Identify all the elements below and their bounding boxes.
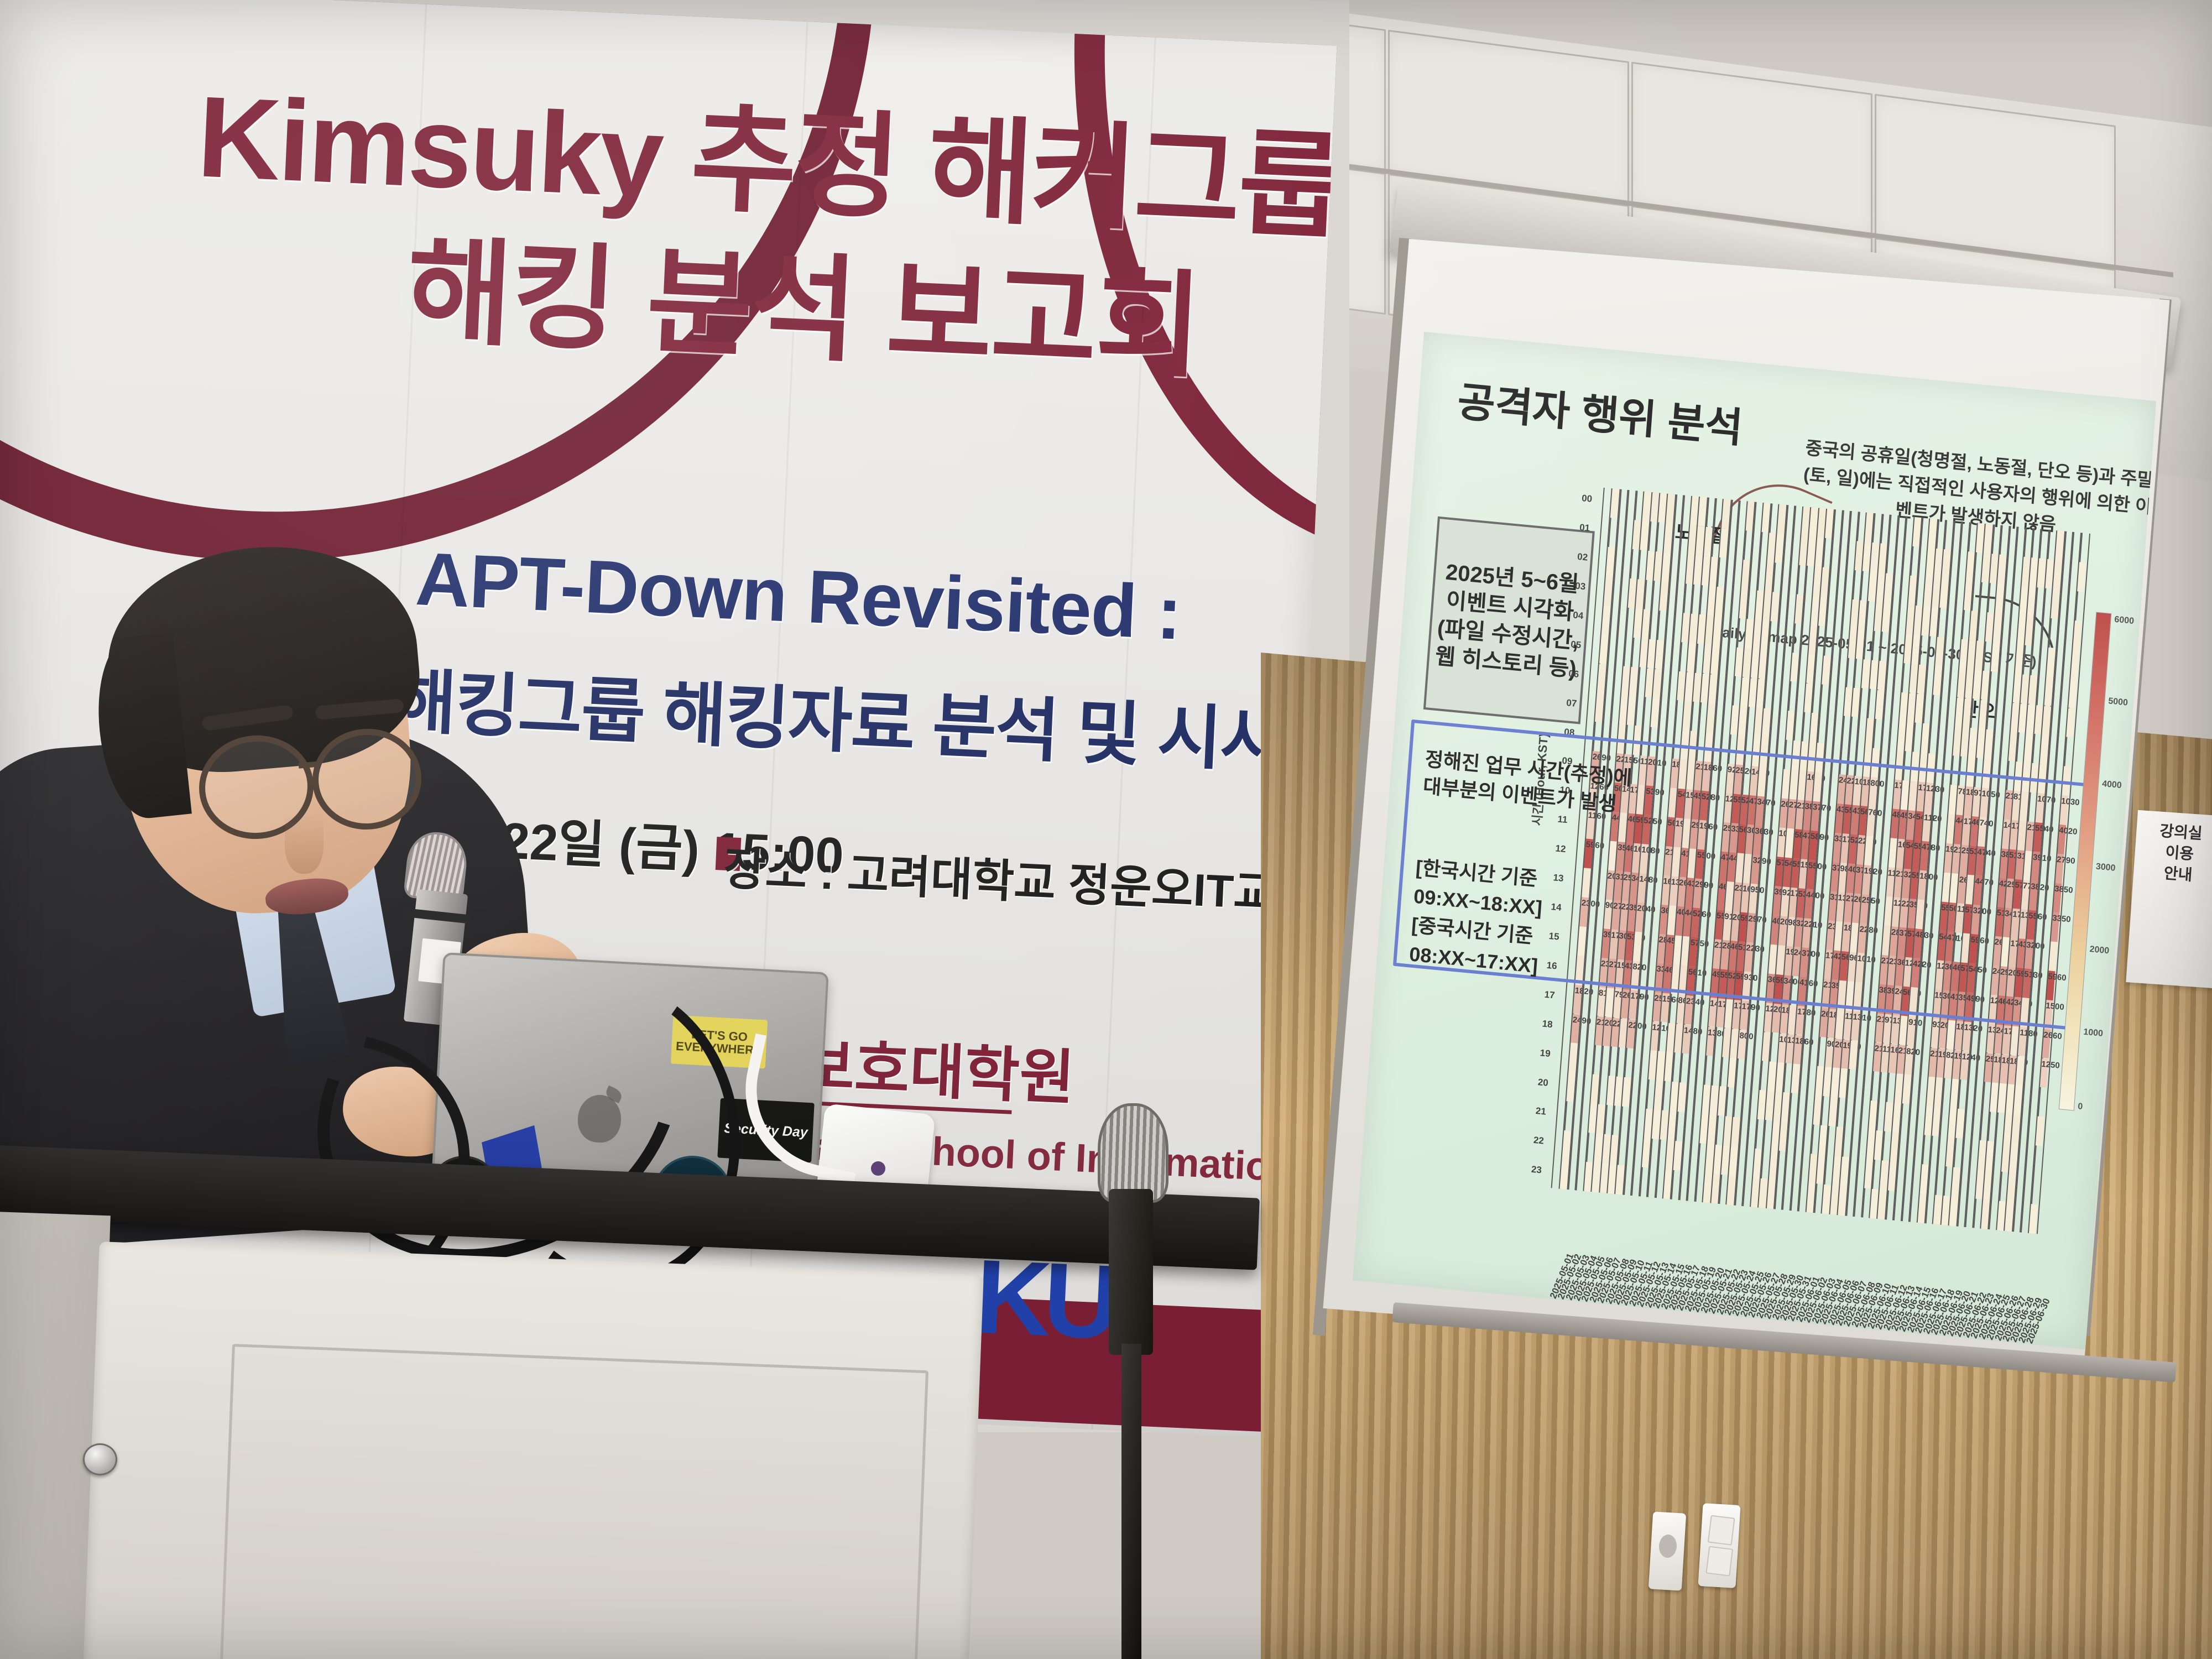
- heatmap-y-tick: 20: [1537, 1077, 1548, 1089]
- heatmap-y-tick: 01: [1579, 522, 1590, 534]
- podium-front-panel: [218, 1344, 928, 1659]
- colorbar-tick-2: 4000: [2101, 779, 2122, 791]
- photo-scene: Kimsuky 추정 해커그룹 해킹 분석 보고회 APT-Down Revis…: [0, 0, 2212, 1659]
- heatmap-y-tick: 19: [1540, 1047, 1551, 1060]
- presentation-slide: 공격자 행위 분석 2025년 5~6월 이벤트 시각화 (파일 수정시간, 웹…: [1353, 332, 2156, 1349]
- notice-line-3: 안내: [2137, 861, 2212, 888]
- nose: [285, 813, 324, 874]
- heatmap-y-tick: 17: [1544, 989, 1555, 1001]
- slide-title: 공격자 행위 분석: [1455, 368, 1745, 454]
- slide-callout-box: 2025년 5~6월 이벤트 시각화 (파일 수정시간, 웹 히스토리 등): [1423, 517, 1595, 724]
- heatmap-y-tick: 03: [1575, 581, 1586, 593]
- colorbar-tick-4: 2000: [2089, 945, 2110, 956]
- heatmap-y-tick: 05: [1571, 639, 1582, 651]
- heatmap-y-tick: 04: [1573, 609, 1584, 622]
- wall-light-switch[interactable]: [1698, 1503, 1740, 1588]
- light-switch-top-button[interactable]: [1708, 1515, 1735, 1546]
- heatmap-y-tick: 22: [1533, 1135, 1544, 1147]
- heatmap-y-tick: 18: [1542, 1018, 1553, 1030]
- floor-microphone-head[interactable]: [1098, 1103, 1168, 1203]
- heatmap-y-tick: 06: [1568, 668, 1579, 680]
- floor-microphone-stand: [1121, 1344, 1141, 1659]
- podium-lock-icon[interactable]: [83, 1443, 117, 1475]
- wall-notice-sign: 강의실 이용 안내: [2126, 810, 2212, 988]
- banner-venue: 장소 : 고려대학교 정운오IT교양관 404호: [722, 832, 1337, 932]
- colorbar-tick-1: 5000: [2108, 696, 2128, 708]
- power-adapter-indicator-icon: [871, 1161, 885, 1176]
- colorbar-tick-6: 0: [2078, 1102, 2083, 1112]
- colorbar-tick-0: 6000: [2114, 615, 2135, 627]
- heatmap-y-tick: 07: [1566, 697, 1577, 709]
- colorbar-tick-3: 3000: [2095, 862, 2116, 873]
- heatmap-y-tick: 02: [1577, 551, 1588, 564]
- heatmap-y-tick: 23: [1531, 1164, 1542, 1176]
- light-switch-bottom-button[interactable]: [1705, 1546, 1733, 1577]
- floor-microphone-body: [1109, 1189, 1153, 1355]
- work-hours-times: [한국시간 기준 09:XX~18:XX] [중국시간 기준 08:XX~17:…: [1408, 853, 1660, 992]
- heatmap-y-tick: 00: [1581, 493, 1592, 505]
- colorbar-tick-5: 1000: [2083, 1027, 2104, 1039]
- heatmap-y-tick: 21: [1535, 1105, 1546, 1118]
